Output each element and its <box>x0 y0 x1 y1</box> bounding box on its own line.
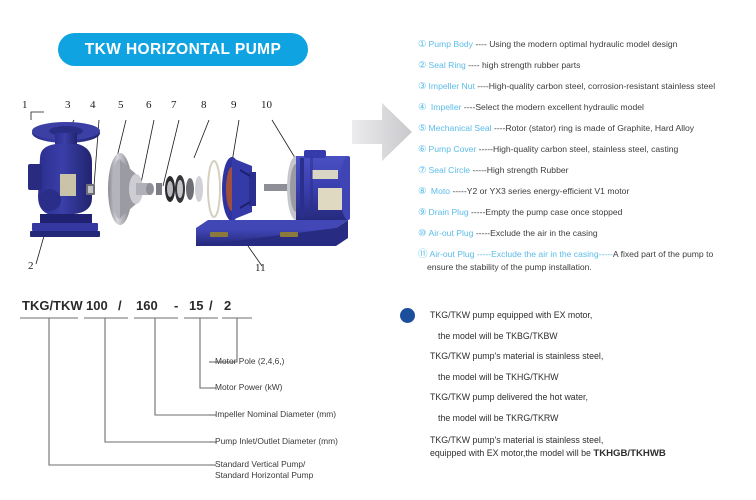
feature-name: Impeller Nut <box>429 81 475 91</box>
feature-item: ⑦Seal Circle -----High strength Rubber <box>418 160 756 181</box>
circled-number-icon: ⑥ <box>418 144 427 155</box>
callout-6: 6 <box>146 99 152 111</box>
model-nomenclature-diagram: TKG/TKW 100 / 160 - 15 / 2 <box>0 295 392 495</box>
feature-name: Pump Body <box>429 39 473 49</box>
variant-text: the model will be TKRG/TKRW <box>430 408 558 429</box>
variant-line-final-2: equipped with EX motor,the model will be… <box>430 447 756 460</box>
feature-separator: ---- <box>473 39 489 49</box>
feature-item: ⑥Pump Cover -----High-quality carbon ste… <box>418 139 756 160</box>
feature-item: ⑤Mechanical Seal ----Rotor (stator) ring… <box>418 118 756 139</box>
feature-description: High-quality carbon steel, corrosion-res… <box>489 81 715 91</box>
feature-separator: ---- <box>475 81 489 91</box>
impeller-part <box>108 153 154 225</box>
feature-separator: ----- <box>469 207 486 217</box>
feature-name: Impeller <box>429 102 462 112</box>
right-arrow-icon <box>352 98 414 166</box>
callout-1: 1 <box>22 99 28 111</box>
feature-separator: ----- <box>450 186 467 196</box>
callout-11: 11 <box>255 262 266 274</box>
feature-item: ⑨Drain Plug -----Empty the pump case onc… <box>418 202 756 223</box>
callout-5: 5 <box>118 99 124 111</box>
feature-separator: ---- <box>466 60 482 70</box>
feature-item: ⑧ Moto -----Y2 or YX3 series energy-effi… <box>418 181 756 202</box>
impeller-nut-part <box>86 184 95 195</box>
feature-item: ②Seal Ring ---- high strength rubber par… <box>418 55 756 76</box>
circled-number-icon: ⑤ <box>418 123 427 134</box>
exploded-pump-drawing <box>0 88 350 288</box>
circled-number-icon: ③ <box>418 81 427 92</box>
variant-text: TKG/TKW pump's material is stainless ste… <box>430 351 603 361</box>
nom-label-inlet-outlet-dia: Pump Inlet/Outlet Diameter (mm) <box>215 436 338 447</box>
variant-text: TKG/TKW pump's material is stainless ste… <box>430 435 603 445</box>
feature-separator: ---- <box>492 123 506 133</box>
feature-separator: ----- <box>470 165 487 175</box>
feature-separator: ----- <box>476 144 493 154</box>
circled-number-icon: ② <box>418 60 427 71</box>
feature-description: Empty the pump case once stopped <box>485 207 622 217</box>
feature-description: Using the modern optimal hydraulic model… <box>489 39 677 49</box>
feature-name: Air-out Plug <box>430 249 475 259</box>
base-plate-part <box>196 220 348 246</box>
page-title-banner: TKW HORIZONTAL PUMP <box>58 33 308 66</box>
feature-description: Y2 or YX3 series energy-efficient V1 mot… <box>467 186 630 196</box>
variant-line: the model will be TKHG/TKHW <box>430 367 756 388</box>
variant-text: TKG/TKW pump delivered the hot water, <box>430 392 588 402</box>
callout-4: 4 <box>90 99 96 111</box>
variant-line: TKG/TKW pump delivered the hot water, <box>430 387 756 408</box>
feature-item-last: ⑪Air-out Plug -----Exclude the air in th… <box>418 244 756 274</box>
nom-label-motor-power: Motor Power (kW) <box>215 382 282 393</box>
callout-2: 2 <box>28 260 34 272</box>
feature-description: A fixed part of the pump to <box>613 249 713 259</box>
feature-item: ④ Impeller ----Select the modern excelle… <box>418 97 756 118</box>
variant-text: the model will be TKBG/TKBW <box>430 326 558 347</box>
pump-cover-part <box>222 157 256 221</box>
seal-circle-part <box>208 161 220 217</box>
pump-body-part <box>28 122 100 237</box>
feature-description-line2: ensure the stability of the pump install… <box>418 261 756 274</box>
feature-separator: ----- <box>473 228 490 238</box>
callout-10: 10 <box>261 99 272 111</box>
feature-description-blue: Exclude the air in the casing----- <box>491 249 613 259</box>
circled-number-icon: ⑩ <box>418 228 427 239</box>
feature-name: Drain Plug <box>429 207 469 217</box>
nom-label-pump-type-line2: Standard Horizontal Pump <box>215 470 313 481</box>
bullet-dot-icon <box>400 308 415 323</box>
feature-description: High strength Rubber <box>487 165 569 175</box>
variants-text-list: TKG/TKW pump equipped with EX motor, the… <box>400 305 756 460</box>
feature-name: Air-out Plug <box>429 228 474 238</box>
pump-parts-feature-list: ①Pump Body ---- Using the modern optimal… <box>418 34 756 274</box>
variant-line: the model will be TKBG/TKBW <box>430 326 756 347</box>
nom-label-motor-pole: Motor Pole (2,4,6,) <box>215 356 284 367</box>
nomenclature-leader-lines <box>0 295 392 495</box>
variant-line: the model will be TKRG/TKRW <box>430 408 756 429</box>
callout-7: 7 <box>171 99 177 111</box>
variant-model-code: TKHGB/TKHWB <box>593 448 665 459</box>
feature-name: Moto <box>429 186 451 196</box>
feature-name: Pump Cover <box>429 144 477 154</box>
variant-text: equipped with EX motor,the model will be <box>430 448 593 458</box>
circled-number-icon: ④ <box>418 102 427 113</box>
feature-separator: ---- <box>461 102 475 112</box>
feature-item: ⑩Air-out Plug -----Exclude the air in th… <box>418 223 756 244</box>
feature-name: Mechanical Seal <box>429 123 492 133</box>
callout-9: 9 <box>231 99 237 111</box>
callout-3: 3 <box>65 99 71 111</box>
feature-name: Seal Ring <box>429 60 466 70</box>
variant-text: TKG/TKW pump equipped with EX motor, <box>430 310 592 320</box>
nom-label-impeller-dia: Impeller Nominal Diameter (mm) <box>215 409 336 420</box>
mechanical-seal-part <box>156 175 203 203</box>
feature-description: High-quality carbon steel, stainless ste… <box>493 144 678 154</box>
variant-line-final-1: TKG/TKW pump's material is stainless ste… <box>430 428 756 447</box>
model-variants-block: TKG/TKW pump equipped with EX motor, the… <box>400 305 756 460</box>
circled-number-icon: ⑧ <box>418 186 427 197</box>
circled-number-icon: ① <box>418 39 427 50</box>
feature-item: ①Pump Body ---- Using the modern optimal… <box>418 34 756 55</box>
variant-text: the model will be TKHG/TKHW <box>430 367 559 388</box>
circled-number-icon: ⑦ <box>418 165 427 176</box>
motor-part <box>264 150 350 220</box>
feature-description: Exclude the air in the casing <box>490 228 598 238</box>
nom-label-pump-type-line1: Standard Vertical Pump/ <box>215 459 305 470</box>
feature-separator: ----- <box>474 249 491 259</box>
feature-item: ③Impeller Nut ----High-quality carbon st… <box>418 76 756 97</box>
variant-line: TKG/TKW pump equipped with EX motor, <box>430 305 756 326</box>
circled-number-icon: ⑪ <box>418 249 428 260</box>
pump-exploded-view-image: 1 3 4 5 6 7 8 9 10 2 11 <box>0 88 350 288</box>
feature-description: Rotor (stator) ring is made of Graphite,… <box>505 123 694 133</box>
feature-name: Seal Circle <box>429 165 471 175</box>
variant-line: TKG/TKW pump's material is stainless ste… <box>430 346 756 367</box>
feature-description: Select the modern excellent hydraulic mo… <box>475 102 644 112</box>
page-title: TKW HORIZONTAL PUMP <box>85 41 281 59</box>
callout-8: 8 <box>201 99 207 111</box>
circled-number-icon: ⑨ <box>418 207 427 218</box>
feature-description: high strength rubber parts <box>482 60 580 70</box>
